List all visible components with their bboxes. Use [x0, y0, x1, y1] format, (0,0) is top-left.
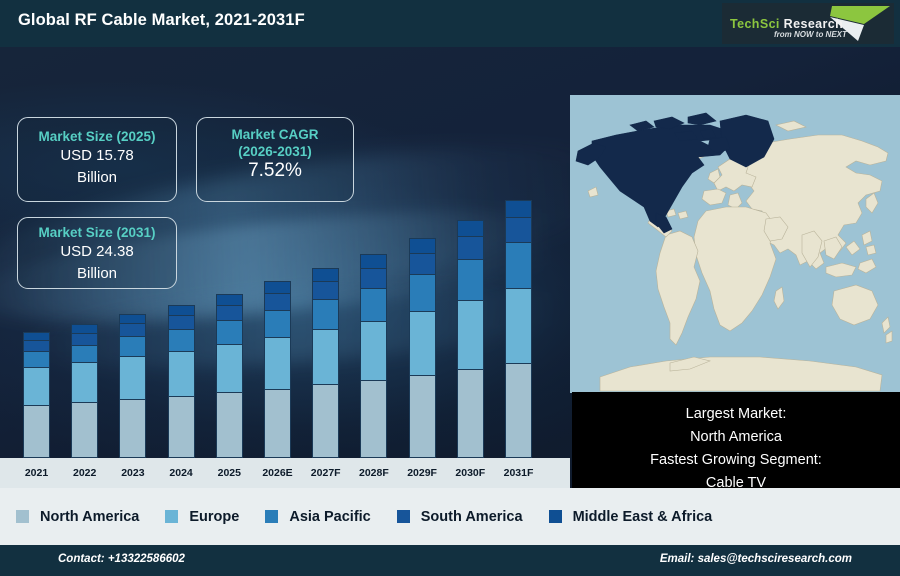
legend-swatch-icon	[549, 510, 562, 523]
bar-2026E	[264, 281, 291, 458]
logo-text-techsci: TechSci	[730, 17, 780, 31]
bar-segment-middle-east-africa	[505, 200, 532, 217]
legend-label: Europe	[189, 509, 239, 525]
bar-segment-asia-pacific	[505, 242, 532, 288]
bar-segment-middle-east-africa	[23, 332, 50, 340]
bar-segment-europe	[168, 351, 195, 396]
bar-segment-asia-pacific	[216, 320, 243, 344]
bar-segment-asia-pacific	[360, 288, 387, 321]
bar-segment-middle-east-africa	[119, 314, 146, 323]
bar-segment-north-america	[23, 405, 50, 458]
bar-segment-asia-pacific	[71, 345, 98, 362]
logo-text-research: Research	[780, 17, 843, 31]
bar-segment-middle-east-africa	[264, 281, 291, 293]
bar-2021	[23, 332, 50, 458]
infographic-root: Global RF Cable Market, 2021-2031F TechS…	[0, 0, 900, 576]
bar-segment-europe	[119, 356, 146, 399]
x-axis-label-2021: 2021	[10, 467, 64, 479]
legend-label: Asia Pacific	[289, 509, 370, 525]
bar-segment-north-america	[71, 402, 98, 458]
bar-segment-north-america	[360, 380, 387, 458]
footer-contact: Contact: +13322586602	[58, 553, 185, 565]
logo-tagline: from NOW to NEXT	[774, 30, 847, 39]
bar-segment-middle-east-africa	[312, 268, 339, 281]
bar-segment-south-america	[216, 305, 243, 320]
largest-market-value: North America	[572, 426, 900, 449]
bar-segment-asia-pacific	[168, 329, 195, 351]
bar-2022	[71, 324, 98, 458]
legend-item-middle-east-africa[interactable]: Middle East & Africa	[549, 509, 713, 525]
legend-swatch-icon	[165, 510, 178, 523]
bar-segment-north-america	[409, 375, 436, 458]
x-axis-label-2023: 2023	[106, 467, 160, 479]
bar-segment-north-america	[312, 384, 339, 458]
bar-segment-north-america	[216, 392, 243, 458]
bar-segment-europe	[457, 300, 484, 369]
world-map-svg	[570, 95, 900, 393]
x-axis-label-2031F: 2031F	[492, 467, 546, 479]
bar-segment-asia-pacific	[457, 259, 484, 300]
bar-segment-south-america	[168, 315, 195, 329]
chart-panel: Market Size (2025) USD 15.78 Billion Mar…	[0, 47, 900, 488]
bar-segment-south-america	[119, 323, 146, 336]
bar-2025	[216, 294, 243, 458]
bar-segment-europe	[71, 362, 98, 402]
fastest-segment-label: Fastest Growing Segment:	[572, 449, 900, 472]
page-title: Global RF Cable Market, 2021-2031F	[18, 11, 305, 30]
x-axis-label-2027F: 2027F	[299, 467, 353, 479]
bar-segment-europe	[360, 321, 387, 380]
bar-2029F	[409, 238, 436, 458]
header-bar: Global RF Cable Market, 2021-2031F TechS…	[0, 0, 900, 47]
largest-market-label: Largest Market:	[572, 403, 900, 426]
bar-segment-south-america	[264, 293, 291, 310]
bar-segment-middle-east-africa	[409, 238, 436, 253]
x-axis-label-2030F: 2030F	[443, 467, 497, 479]
x-axis-label-2028F: 2028F	[347, 467, 401, 479]
bar-2031F	[505, 200, 532, 458]
bar-2028F	[360, 254, 387, 458]
bar-segment-middle-east-africa	[216, 294, 243, 305]
x-axis-label-2025: 2025	[202, 467, 256, 479]
legend-label: North America	[40, 509, 139, 525]
bar-segment-middle-east-africa	[457, 220, 484, 236]
x-axis-label-2029F: 2029F	[395, 467, 449, 479]
bar-segment-asia-pacific	[119, 336, 146, 356]
fastest-segment-value: Cable TV	[572, 472, 900, 488]
bar-segment-north-america	[168, 396, 195, 458]
bar-segment-europe	[264, 337, 291, 389]
x-axis-label-2022: 2022	[58, 467, 112, 479]
bar-segment-south-america	[71, 333, 98, 345]
company-logo: TechSci Research from NOW to NEXT	[722, 3, 894, 44]
bar-2027F	[312, 268, 339, 458]
bar-segment-south-america	[457, 236, 484, 259]
footer-bar: Contact: +13322586602 Email: sales@techs…	[0, 545, 900, 576]
logo-wordmark: TechSci Research	[730, 17, 843, 31]
bar-segment-europe	[505, 288, 532, 363]
bar-2030F	[457, 220, 484, 458]
bar-segment-asia-pacific	[312, 299, 339, 329]
chart-legend: North AmericaEuropeAsia PacificSouth Ame…	[0, 488, 900, 545]
stacked-bar-chart: 202120222023202420252026E2027F2028F2029F…	[0, 47, 570, 488]
bar-segment-north-america	[457, 369, 484, 458]
legend-label: Middle East & Africa	[573, 509, 713, 525]
bar-segment-south-america	[23, 340, 50, 351]
bar-segment-middle-east-africa	[71, 324, 98, 333]
legend-item-north-america[interactable]: North America	[16, 509, 139, 525]
bar-segment-north-america	[119, 399, 146, 458]
bar-segment-europe	[312, 329, 339, 384]
legend-label: South America	[421, 509, 523, 525]
bar-segment-south-america	[409, 253, 436, 274]
bar-segment-asia-pacific	[264, 310, 291, 337]
legend-swatch-icon	[265, 510, 278, 523]
x-axis-label-2026E: 2026E	[251, 467, 305, 479]
bar-segment-asia-pacific	[23, 351, 50, 367]
legend-item-south-america[interactable]: South America	[397, 509, 523, 525]
bar-segment-asia-pacific	[409, 274, 436, 311]
bar-2023	[119, 314, 146, 458]
bar-segment-europe	[23, 367, 50, 405]
bar-segment-south-america	[360, 268, 387, 288]
bar-segment-middle-east-africa	[168, 305, 195, 315]
world-map	[570, 95, 900, 393]
bar-2024	[168, 305, 195, 458]
bar-segment-europe	[216, 344, 243, 392]
footer-email: Email: sales@techsciresearch.com	[660, 553, 852, 565]
legend-swatch-icon	[397, 510, 410, 523]
bar-segment-south-america	[312, 281, 339, 299]
bar-segment-europe	[409, 311, 436, 375]
legend-item-asia-pacific[interactable]: Asia Pacific	[265, 509, 370, 525]
bar-segment-middle-east-africa	[360, 254, 387, 268]
insight-box: Largest Market: North America Fastest Gr…	[572, 392, 900, 488]
legend-item-europe[interactable]: Europe	[165, 509, 239, 525]
bar-segment-south-america	[505, 217, 532, 242]
bar-segment-north-america	[264, 389, 291, 458]
legend-swatch-icon	[16, 510, 29, 523]
x-axis-label-2024: 2024	[154, 467, 208, 479]
bar-segment-north-america	[505, 363, 532, 458]
